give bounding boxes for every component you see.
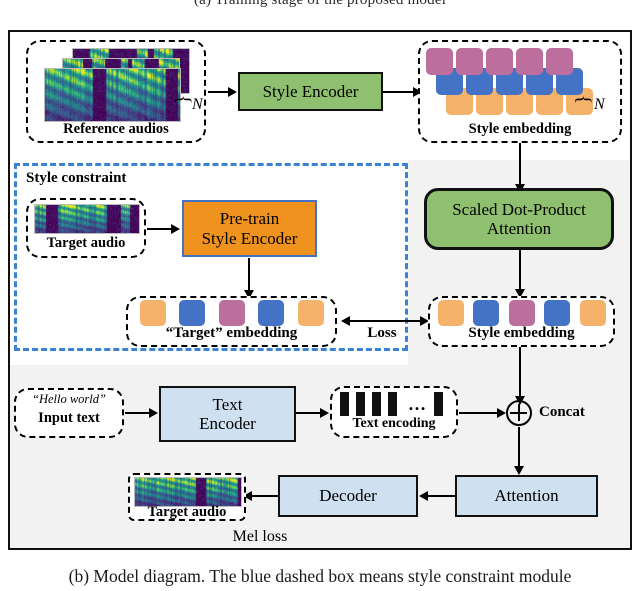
target-audio-output-spectrogram [134, 477, 242, 507]
input-text-quote: “Hello world” [14, 392, 124, 407]
style-embedding-top-block [546, 48, 573, 75]
target-audio-input-spectrogram [34, 204, 140, 234]
arrow-ref-to-encoder [208, 91, 229, 93]
attention-label: Attention [494, 486, 558, 505]
style-constraint-label: Style constraint [26, 170, 126, 187]
scaled-dot-product-attention-line1: Scaled Dot-Product [452, 200, 586, 219]
text-encoding-label: Text encoding [330, 417, 458, 432]
text-encoding-bar [356, 392, 365, 416]
pretrain-style-encoder-line1: Pre-train [220, 209, 279, 228]
style-encoder-label: Style Encoder [263, 82, 359, 101]
arrow-attention-to-decoder [427, 495, 455, 497]
style-embedding-bottom-label: Style embedding [428, 326, 615, 342]
text-encoder-box[interactable]: Text Encoder [159, 386, 296, 442]
arrow-pretrain-to-targetemb [248, 258, 250, 291]
arrow-concat-to-attention [518, 427, 520, 470]
style-embedding-top-block [516, 48, 543, 75]
arrow-attention-to-styleemb [519, 250, 521, 290]
concat-label: Concat [539, 405, 609, 421]
target-embedding-blocks [126, 296, 337, 326]
arrow-encoder-to-embedding [383, 91, 414, 93]
target-audio-input-label: Target audio [26, 236, 146, 251]
text-encoding-ellipsis: … [404, 392, 430, 416]
scaled-dot-product-attention-line2: Attention [487, 219, 551, 238]
reference-audios-brace: { [171, 95, 194, 105]
loss-label: Loss [352, 326, 412, 342]
style-embedding-top-block [486, 48, 513, 75]
arrow-inputtext-to-textencoder [125, 412, 150, 414]
mel-loss-label: Mel loss [180, 528, 340, 546]
attention-box[interactable]: Attention [455, 475, 598, 517]
style-embedding-top-brace: { [571, 95, 594, 105]
target-embedding-block [219, 300, 245, 326]
text-encoder-line1: Text [213, 395, 243, 414]
pretrain-style-encoder-box[interactable]: Pre-train Style Encoder [182, 200, 317, 257]
target-embedding-block [258, 300, 284, 326]
style-embedding-bottom-block [544, 300, 570, 326]
text-encoder-line2: Encoder [199, 414, 256, 433]
reference-spectrogram-1 [44, 68, 181, 122]
style-embedding-bottom-block [509, 300, 535, 326]
arrowhead-encoding-to-concat [497, 408, 506, 418]
decoder-label: Decoder [319, 486, 377, 505]
arrowhead-targetaudio-to-pretrain [171, 224, 180, 234]
arrowhead-textencoder-to-encoding [320, 408, 329, 418]
text-encoding-bar [388, 392, 397, 416]
arrow-decoder-to-targetaudio [251, 495, 279, 497]
loss-line [349, 320, 422, 322]
text-encoding-bar [340, 392, 349, 416]
text-encoding-bar [434, 392, 443, 416]
target-audio-output-label: Target audio [126, 505, 248, 520]
arrow-targetaudio-to-pretrain [147, 228, 172, 230]
pretrain-style-encoder-line2: Style Encoder [202, 229, 298, 248]
arrow-embedding-to-attention [519, 143, 521, 185]
arrowhead-concat-to-attention [514, 466, 524, 475]
decoder-box[interactable]: Decoder [278, 475, 418, 517]
arrow-encoding-to-concat [459, 412, 500, 414]
target-embedding-block [140, 300, 166, 326]
reference-audios-label: Reference audios [26, 122, 206, 137]
top-caption: (a) Training stage of the proposed model [0, 0, 640, 9]
target-embedding-block [298, 300, 324, 326]
target-embedding-block [179, 300, 205, 326]
input-text-label: Input text [14, 411, 124, 426]
reference-audios-count: N [192, 96, 203, 114]
style-embedding-top-count: N [594, 96, 605, 114]
style-embedding-bottom-blocks [428, 296, 615, 326]
text-encoding-bar [372, 392, 381, 416]
style-embedding-top-label: Style embedding [418, 122, 622, 137]
text-encoding-bars: … [330, 386, 458, 418]
style-encoder-box[interactable]: Style Encoder [238, 72, 383, 111]
arrowhead-inputtext-to-textencoder [149, 408, 158, 418]
arrowhead-ref-to-encoder [228, 87, 237, 97]
concat-icon [506, 400, 532, 426]
arrow-textencoder-to-encoding [296, 412, 321, 414]
style-embedding-bottom-block [473, 300, 499, 326]
style-embedding-top-block [426, 48, 453, 75]
style-embedding-bottom-block [580, 300, 606, 326]
target-embedding-label: “Target” embedding [126, 326, 337, 342]
scaled-dot-product-attention-box[interactable]: Scaled Dot-Product Attention [424, 188, 614, 250]
style-embedding-bottom-block [438, 300, 464, 326]
style-embedding-top-block [456, 48, 483, 75]
bottom-caption: (b) Model diagram. The blue dashed box m… [0, 566, 640, 587]
